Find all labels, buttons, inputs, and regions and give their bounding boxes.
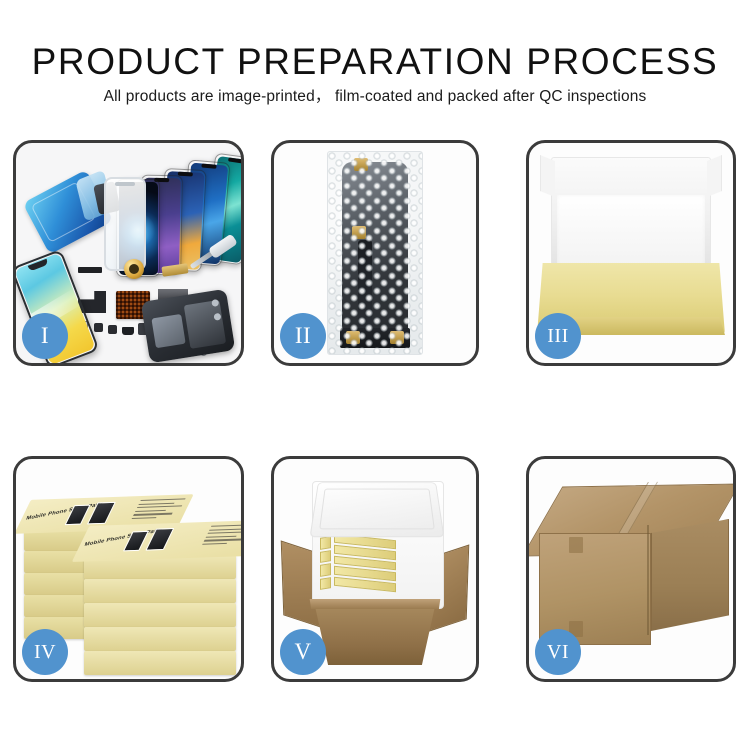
yellow-box (320, 536, 331, 549)
step-badge-1: I (22, 313, 68, 359)
yellow-box (320, 563, 331, 576)
foam-pad (557, 195, 705, 271)
small-part (108, 325, 117, 334)
carton-edge (647, 525, 649, 635)
panel-foam-carton[interactable]: V (271, 456, 479, 682)
yellow-box-column (320, 536, 331, 590)
panel-box-stack[interactable]: Mobile Phone Spare Parts Mobile Phone Sp… (13, 456, 244, 682)
black-bar-part (78, 267, 102, 273)
yellow-box (320, 577, 331, 590)
open-inner-box (537, 157, 725, 329)
panel-sealed-carton[interactable]: VI (526, 456, 736, 682)
gold-flex-part (161, 263, 188, 277)
stacked-box (84, 627, 236, 651)
small-part (94, 323, 103, 332)
panel-products[interactable]: I (13, 140, 244, 366)
small-part (122, 327, 134, 335)
tempered-glass-sheet (104, 177, 146, 271)
carton-side-face (651, 519, 729, 631)
stacked-box (84, 603, 236, 627)
step-badge-2: II (280, 313, 326, 359)
carton-tape-mark (569, 537, 583, 553)
yellow-box-column (334, 534, 396, 593)
yellow-boxes-group (320, 537, 438, 589)
carton-rim (304, 599, 446, 609)
stacked-box (84, 651, 236, 675)
bubble-wrap-bag (327, 151, 423, 355)
box-spec-lines (201, 524, 241, 547)
screen-protector-film (23, 169, 114, 254)
panel-grid: I II (0, 0, 750, 750)
carton-body (306, 603, 444, 665)
step-badge-3: III (535, 313, 581, 359)
step-badge-4: IV (22, 629, 68, 675)
gold-component (124, 259, 144, 279)
box-top-face-front: Mobile Phone Spare Parts (72, 520, 241, 562)
foam-box-lid (310, 482, 445, 537)
step-badge-6: VI (535, 629, 581, 675)
box-spec-lines (130, 498, 185, 521)
bubble-texture (328, 152, 422, 354)
stacked-box (84, 579, 236, 603)
panel-bubble-wrapped[interactable]: II (271, 140, 479, 366)
panel-inner-box[interactable]: III (526, 140, 736, 366)
yellow-box (320, 550, 331, 563)
phone-back-housing (141, 289, 236, 363)
step-badge-5: V (280, 629, 326, 675)
